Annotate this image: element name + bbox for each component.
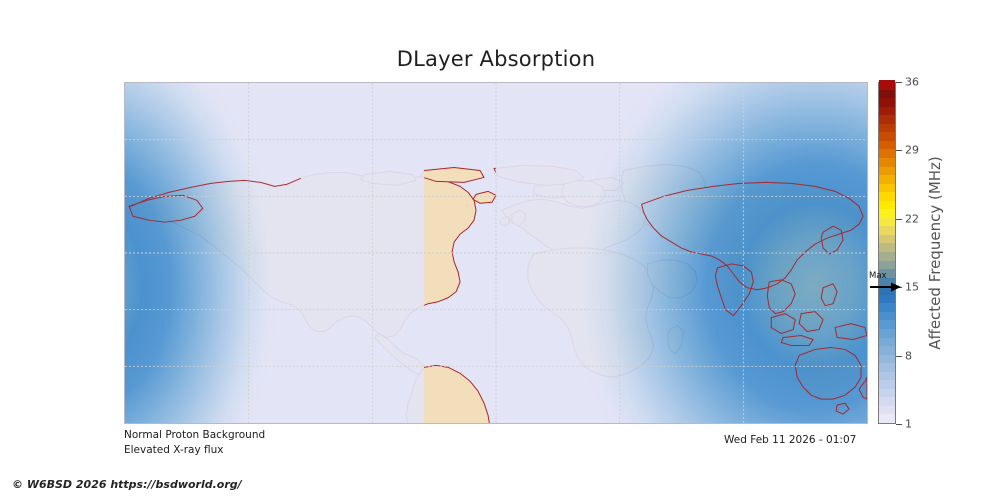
note-xray-flux: Elevated X-ray flux — [124, 444, 223, 456]
colorbar-band — [879, 243, 895, 252]
colorbar-tick — [896, 150, 902, 151]
colorbar-band — [879, 157, 895, 166]
note-proton-background: Normal Proton Background — [124, 429, 265, 441]
colorbar-band — [879, 98, 895, 107]
colorbar-band — [879, 106, 895, 115]
colorbar-band — [879, 414, 895, 423]
colorbar-band — [879, 354, 895, 363]
colorbar-band — [879, 251, 895, 260]
colorbar-band — [879, 397, 895, 406]
colorbar-band — [879, 234, 895, 243]
colorbar-tick — [896, 356, 902, 357]
colorbar-tick — [896, 424, 902, 425]
colorbar-band — [879, 345, 895, 354]
colorbar-band — [879, 140, 895, 149]
colorbar-band — [879, 277, 895, 286]
colorbar-tick-label: 8 — [905, 349, 912, 362]
colorbar-band — [879, 269, 895, 278]
colorbar-band — [879, 388, 895, 397]
colorbar-band — [879, 311, 895, 320]
colorbar-gradient — [878, 82, 896, 424]
colorbar-band — [879, 337, 895, 346]
colorbar-band — [879, 192, 895, 201]
colorbar-band — [879, 80, 895, 89]
map-plot-area[interactable] — [124, 82, 868, 424]
colorbar-band — [879, 380, 895, 389]
timestamp-label: Wed Feb 11 2026 - 01:07 — [724, 434, 856, 446]
colorbar-band — [879, 320, 895, 329]
colorbar-band — [879, 200, 895, 209]
colorbar-band — [879, 303, 895, 312]
colorbar-band — [879, 371, 895, 380]
colorbar-band — [879, 89, 895, 98]
colorbar-axis-label-text: Affected Frequency (MHz) — [926, 156, 944, 350]
colorbar-band — [879, 405, 895, 414]
figure-canvas: DLayer Absorption — [0, 0, 1000, 500]
colorbar-tick-label: 15 — [905, 281, 919, 294]
colorbar-tick-label: 36 — [905, 76, 919, 89]
colorbar-band — [879, 363, 895, 372]
colorbar-band — [879, 132, 895, 141]
colorbar-band — [879, 166, 895, 175]
colorbar-band — [879, 149, 895, 158]
colorbar-tick — [896, 82, 902, 83]
colorbar-tick-label: 1 — [905, 418, 912, 431]
page-title: DLayer Absorption — [124, 47, 868, 71]
colorbar-band — [879, 183, 895, 192]
colorbar[interactable]: 1815222936 — [878, 82, 896, 424]
colorbar-band — [879, 328, 895, 337]
colorbar-axis-label: Affected Frequency (MHz) — [924, 82, 946, 424]
colorbar-band — [879, 260, 895, 269]
colorbar-tick-label: 29 — [905, 144, 919, 157]
colorbar-band — [879, 115, 895, 124]
colorbar-band — [879, 217, 895, 226]
world-map-svg — [125, 83, 867, 423]
colorbar-tick — [896, 287, 902, 288]
colorbar-tick — [896, 219, 902, 220]
colorbar-band — [879, 174, 895, 183]
colorbar-band — [879, 286, 895, 295]
colorbar-band — [879, 123, 895, 132]
colorbar-band — [879, 226, 895, 235]
copyright-notice: © W6BSD 2026 https://bsdworld.org/ — [12, 478, 242, 491]
colorbar-band — [879, 294, 895, 303]
colorbar-tick-label: 22 — [905, 212, 919, 225]
colorbar-band — [879, 209, 895, 218]
